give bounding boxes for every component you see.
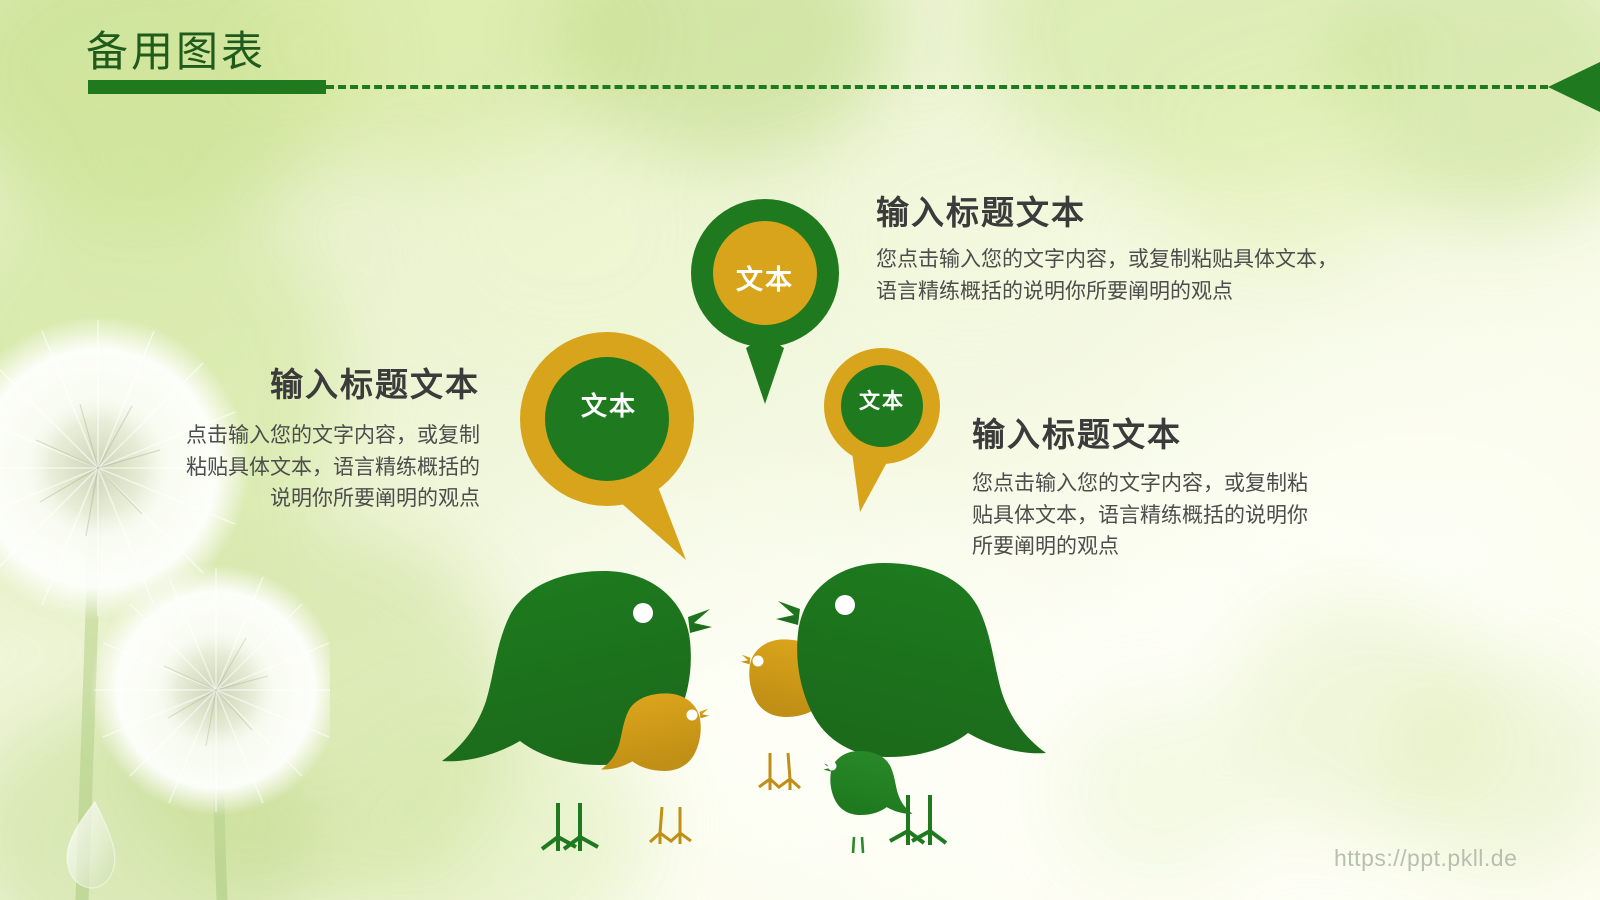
content-block-left: 输入标题文本 点击输入您的文字内容，或复制 粘贴具体文本，语言精练概括的 说明你… [110, 358, 480, 515]
speech-bubble-small[interactable]: 文本 [822, 346, 942, 516]
title-underline-bar [88, 80, 326, 94]
speech-bubble-left[interactable]: 文本 [518, 330, 700, 562]
watermark: https://ppt.pkll.de [1334, 845, 1517, 872]
content-body-line: 语言精练概括的说明你所要阐明的观点 [876, 276, 1338, 308]
content-block-bottom-right: 输入标题文本 您点击输入您的文字内容，或复制粘 贴具体文本，语言精练概括的说明你… [972, 408, 1308, 563]
speech-bubble-left-label: 文本 [518, 386, 700, 423]
large-green-bird-right [776, 563, 1046, 845]
content-heading-bottom-right: 输入标题文本 [972, 408, 1308, 456]
content-body-line: 您点击输入您的文字内容，或复制粘 [972, 468, 1308, 500]
content-body-line: 贴具体文本，语言精练概括的说明你 [972, 500, 1308, 532]
content-body-top-right: 您点击输入您的文字内容，或复制粘贴具体文本， 语言精练概括的说明你所要阐明的观点 [876, 244, 1338, 307]
slide-canvas: 备用图表 文本 文本 文本 输入标题文本 您点击输入您的文字内容，或 [0, 0, 1600, 900]
page-title: 备用图表 [86, 18, 266, 79]
header-dashed-line [326, 85, 1548, 89]
content-heading-left: 输入标题文本 [110, 358, 480, 406]
content-heading-top-right: 输入标题文本 [876, 186, 1338, 234]
content-body-line: 您点击输入您的文字内容，或复制粘贴具体文本， [876, 244, 1338, 276]
content-body-line: 说明你所要阐明的观点 [110, 483, 480, 515]
birds-illustration [430, 545, 1110, 855]
content-body-left: 点击输入您的文字内容，或复制 粘贴具体文本，语言精练概括的 说明你所要阐明的观点 [110, 420, 480, 515]
speech-bubble-small-label: 文本 [822, 385, 942, 415]
speech-bubble-top-label: 文本 [688, 258, 842, 297]
content-body-line: 粘贴具体文本，语言精练概括的 [110, 452, 480, 484]
header-arrow-icon [1548, 62, 1600, 112]
content-body-line: 点击输入您的文字内容，或复制 [110, 420, 480, 452]
speech-bubble-top[interactable]: 文本 [688, 196, 842, 406]
content-block-top-right: 输入标题文本 您点击输入您的文字内容，或复制粘贴具体文本， 语言精练概括的说明你… [876, 186, 1338, 307]
